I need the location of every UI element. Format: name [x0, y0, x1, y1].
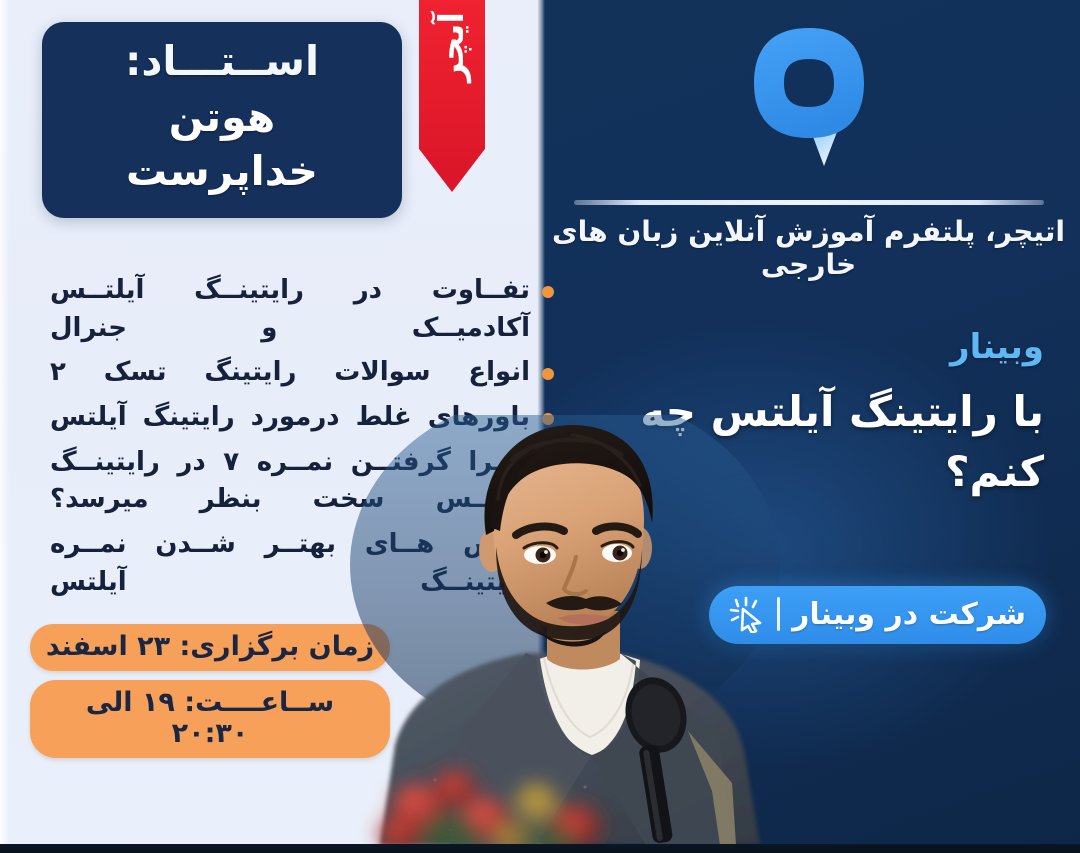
bottom-bar [0, 844, 1080, 853]
topic-text: تفــاوت در رایتینــگ آیلتــس آکادمیــک و… [50, 272, 530, 347]
left-edge-highlight [0, 0, 9, 853]
cta-separator [777, 597, 780, 631]
click-cursor-icon [727, 595, 765, 633]
instructor-name: هوتن خداپرست [68, 91, 376, 198]
ribbon-label: آیچر [435, 12, 469, 82]
list-item: انواع سوالات رایتینگ تسک ۲ [50, 354, 560, 392]
join-webinar-button[interactable]: شرکت در وبینار [709, 586, 1046, 644]
topic-text: انواع سوالات رایتینگ تسک ۲ [50, 354, 530, 392]
bullet-dot-icon [542, 368, 554, 380]
event-date-chip: زمان برگزاری: ۲۳ اسفند [30, 624, 390, 671]
webinar-poster: آیچر اســتـــاد: هوتن خداپرست تفــاوت در… [0, 0, 1080, 853]
event-time-chip: ســاعــــت: ۱۹ الی ۲۰:۳۰ [30, 680, 390, 758]
instructor-label: اســتـــاد: [68, 36, 376, 87]
instructor-card: اســتـــاد: هوتن خداپرست [42, 22, 402, 218]
schedule-chips: زمان برگزاری: ۲۳ اسفند ســاعــــت: ۱۹ ال… [30, 624, 390, 767]
list-item: تفــاوت در رایتینــگ آیلتــس آکادمیــک و… [50, 272, 560, 347]
bullet-dot-icon [542, 286, 554, 298]
join-webinar-label: شرکت در وبینار [792, 597, 1026, 632]
